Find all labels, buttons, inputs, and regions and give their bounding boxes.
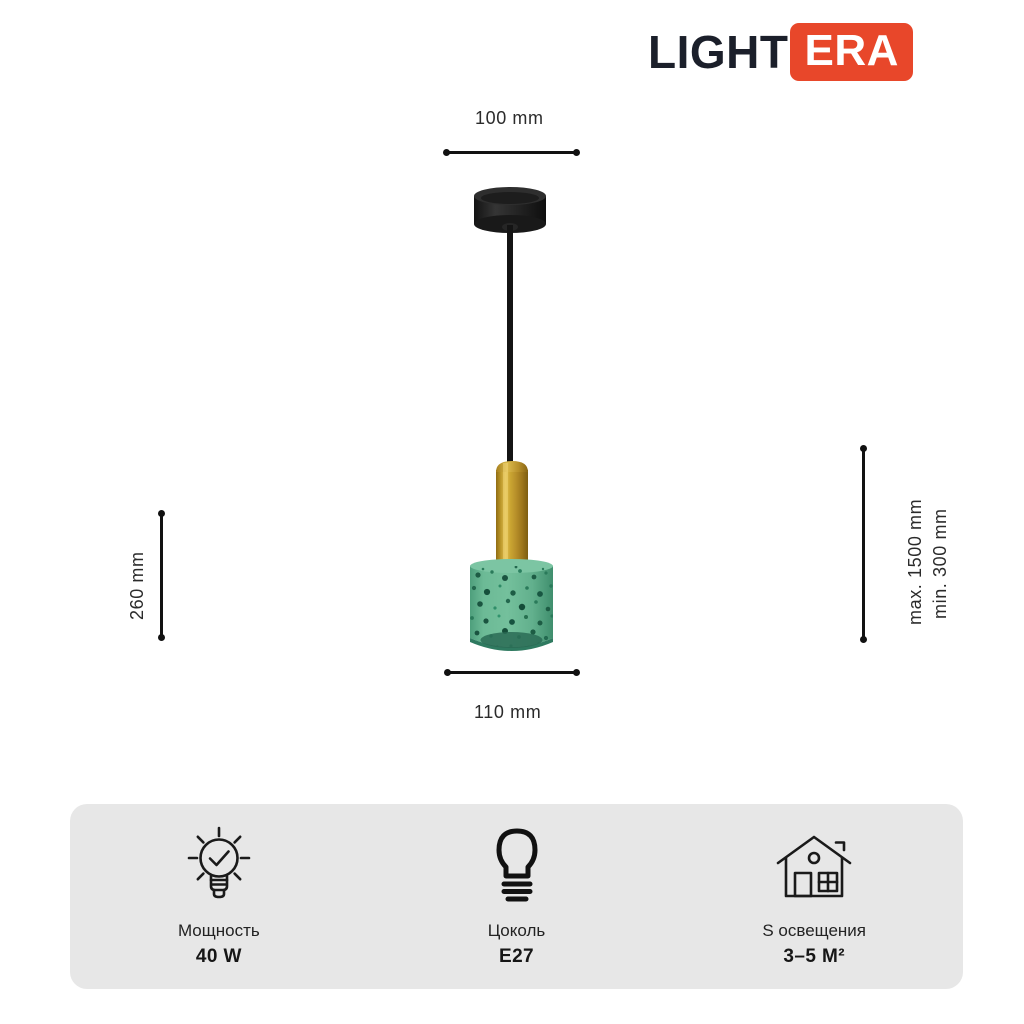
- suspension-cord: [507, 225, 513, 465]
- dim-label-fixture-height: 260 mm: [127, 551, 148, 620]
- brand-logo-light-text: LIGHT: [648, 29, 788, 75]
- spec-item-lighting-area: S освещения 3–5 M²: [665, 804, 963, 989]
- dim-line-bottom-width: [446, 671, 578, 674]
- dim-label-drop-max: max. 1500 mm: [905, 499, 926, 625]
- bulb-socket-icon: [487, 822, 547, 904]
- spec-value-socket: E27: [499, 943, 534, 972]
- spec-value-power: 40 W: [196, 943, 242, 972]
- dim-line-fixture-height: [160, 512, 163, 639]
- dim-line-drop-range: [862, 447, 865, 641]
- terrazzo-shade: [467, 559, 557, 651]
- dim-label-top-width: 100 mm: [475, 108, 544, 129]
- brand-logo-era-badge: ERA: [790, 23, 912, 81]
- house-icon: [774, 822, 854, 904]
- spec-title-power: Мощность: [178, 918, 260, 944]
- ceiling-canopy: [474, 187, 546, 233]
- spec-value-lighting-area: 3–5 M²: [783, 943, 845, 972]
- dim-label-bottom-width: 110 mm: [474, 702, 541, 723]
- terrazzo-speckles: [467, 566, 557, 652]
- spec-title-socket: Цоколь: [488, 918, 546, 944]
- bulb-check-icon: [185, 822, 253, 904]
- dim-line-top-width: [445, 151, 578, 154]
- brass-tube: [496, 461, 528, 570]
- brand-logo-era-text: ERA: [804, 29, 898, 73]
- specification-panel: Мощность 40 W Цоколь E27: [70, 804, 963, 989]
- spec-title-lighting-area: S освещения: [762, 918, 866, 944]
- product-spec-sheet: LIGHT ERA: [0, 0, 1024, 1024]
- brand-logo: LIGHT ERA: [648, 22, 913, 82]
- spec-item-socket: Цоколь E27: [368, 804, 666, 989]
- spec-item-power: Мощность 40 W: [70, 804, 368, 989]
- dim-label-drop-min: min. 300 mm: [930, 508, 951, 619]
